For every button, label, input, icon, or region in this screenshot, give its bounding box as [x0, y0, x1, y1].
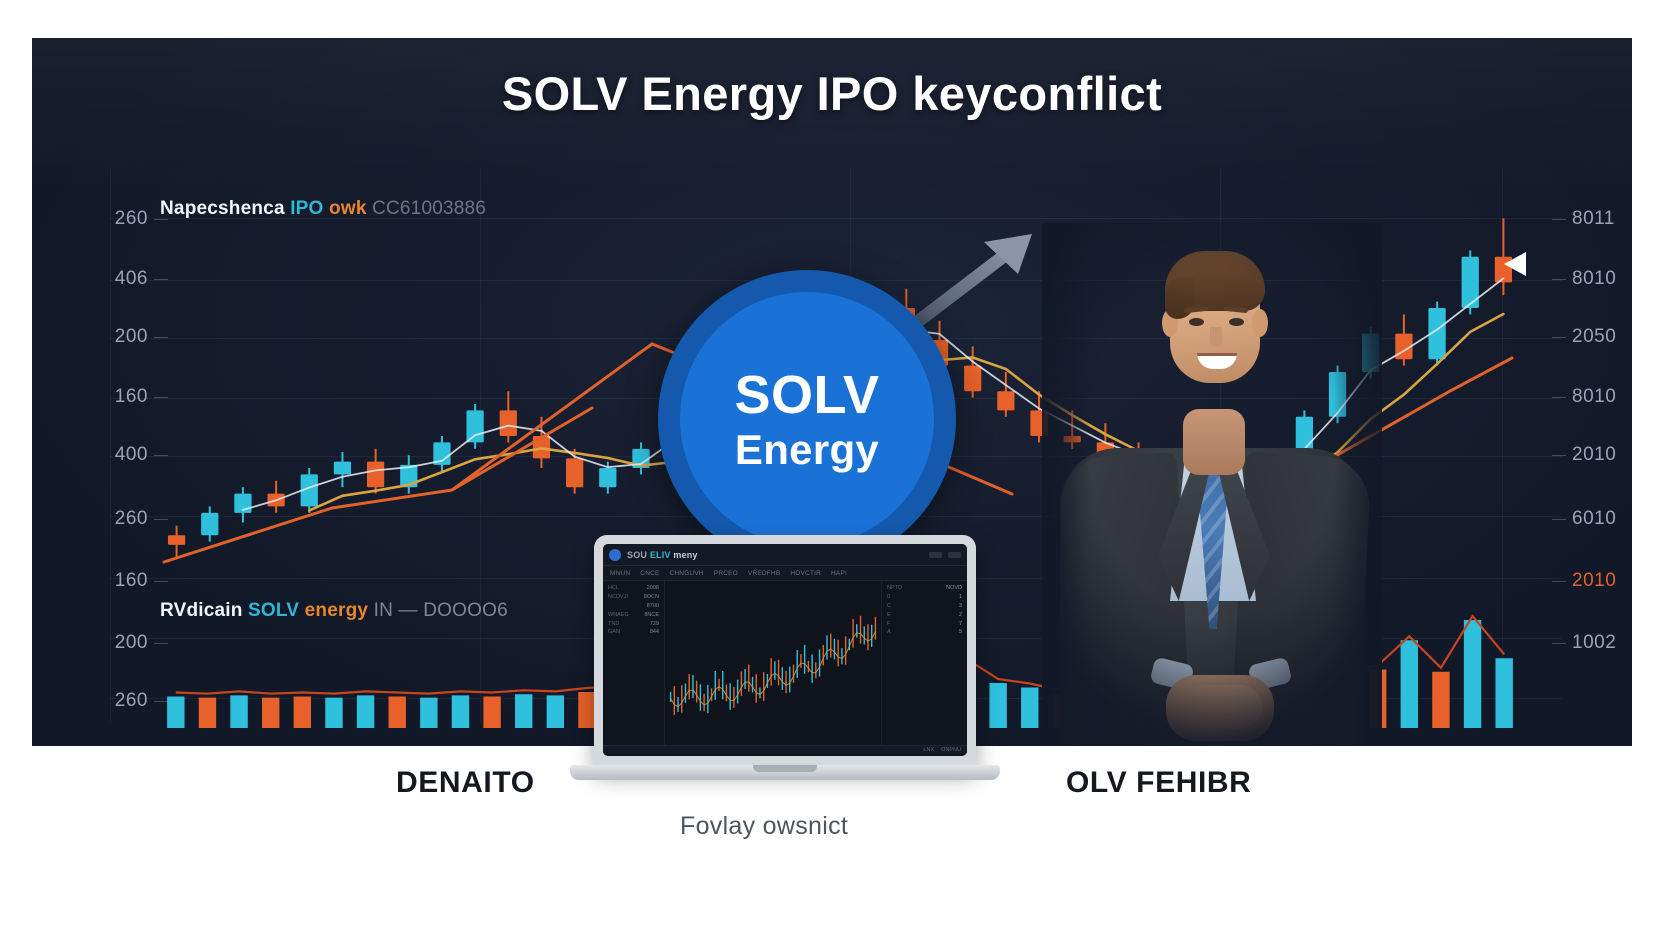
- menu-item-0[interactable]: MNUN: [610, 570, 630, 577]
- row-key: E: [887, 612, 891, 618]
- app-left-panel: HCL2008 NCDVJI8OCN 8700 WNAEG8NCE TND729…: [603, 581, 665, 745]
- menu-item-1[interactable]: CNCE: [640, 570, 659, 577]
- suit-body: [1060, 448, 1366, 746]
- caption-right: OLV FEHIBR: [1066, 766, 1251, 800]
- minimize-button[interactable]: [929, 552, 942, 558]
- y-axis-left-vol-0: 200: [84, 632, 148, 654]
- row-value: NOVD: [946, 585, 962, 591]
- suit-right-arm: [1230, 452, 1371, 746]
- caption-left: DENAITO: [396, 766, 535, 800]
- vol-legend-word-2: SOLV: [248, 600, 299, 621]
- vol-legend-word-5: DOOOO6: [423, 600, 508, 621]
- row-value: 8OCN: [644, 594, 659, 600]
- ear-right: [1252, 309, 1268, 337]
- x-axis-tick-2: 2001: [494, 743, 547, 746]
- trading-app-body: HCL2008 NCDVJI8OCN 8700 WNAEG8NCE TND729…: [603, 581, 967, 745]
- smiling-mouth: [1197, 353, 1237, 369]
- y-axis-left-tick-4: 400: [84, 444, 148, 466]
- suit-left-arm: [1058, 452, 1191, 746]
- status-item-1: ONPNU: [941, 747, 961, 753]
- clasped-hands: [1166, 675, 1274, 741]
- eye-right: [1229, 318, 1244, 326]
- eyebrow-left: [1184, 306, 1208, 313]
- dress-shirt: [1170, 451, 1256, 601]
- row-value: 8NCE: [644, 612, 659, 618]
- price-chart-legend: Napecshenca IPO owk CC61003886: [160, 198, 486, 220]
- legend-word-4: CC61003886: [372, 198, 486, 219]
- row-value: 8700: [647, 603, 659, 609]
- trading-app-statusbar: LNX ONPNU: [603, 745, 967, 754]
- row-value: 844: [650, 629, 659, 635]
- y-axis-right-vol-0: 1002: [1572, 632, 1616, 654]
- shirt-cuff-right: [1247, 657, 1292, 692]
- vol-legend-word-4: IN: [374, 600, 393, 621]
- list-item: TND729: [605, 619, 662, 628]
- maximize-button[interactable]: [948, 552, 961, 558]
- rising-arrow-icon: [912, 234, 1032, 326]
- y-axis-right-tick-0: 8011: [1572, 208, 1615, 230]
- suit-lapel-right: [1218, 451, 1270, 601]
- suit-lapel-left: [1158, 451, 1210, 601]
- list-item: WNAEG8NCE: [605, 610, 662, 619]
- caption-center: Fovlay owsnict: [680, 812, 848, 841]
- row-value: 2008: [647, 585, 659, 591]
- list-item: E2: [884, 610, 965, 619]
- row-key: GAN: [608, 629, 620, 635]
- vol-legend-dash: —: [399, 600, 418, 621]
- row-value: 729: [650, 621, 659, 627]
- necktie: [1198, 461, 1228, 629]
- app-right-panel: NPTONOVD 01 C3 E2 F7 A5: [881, 581, 967, 745]
- row-key: C: [887, 603, 891, 609]
- laptop-screen: SOU ELIV meny MNUN CNCE CHNGUVH PRCEO VR…: [603, 544, 967, 756]
- list-item: A5: [884, 628, 965, 637]
- menu-item-6[interactable]: HAPI: [831, 570, 847, 577]
- list-item: HCL2008: [605, 584, 662, 593]
- app-title-part-a: SOU: [627, 550, 647, 560]
- badge-line-2: Energy: [735, 429, 879, 471]
- app-title-part-b: ELIV: [650, 550, 671, 560]
- y-axis-right-tick-4: 2010: [1572, 444, 1616, 466]
- y-axis-right-tick-5: 6010: [1572, 508, 1616, 530]
- legend-word-3: owk: [329, 198, 367, 219]
- y-axis-left-vol-1: 260: [84, 690, 148, 712]
- legend-word-1: Napecshenca: [160, 198, 285, 219]
- row-key: NCDVJI: [608, 594, 628, 600]
- solv-energy-badge[interactable]: SOLV Energy: [658, 270, 956, 568]
- row-value: 2: [959, 612, 962, 618]
- row-key: HCL: [608, 585, 619, 591]
- volume-chart-legend: RVdicain SOLV energy IN — DOOOO6: [160, 600, 508, 622]
- app-title: SOU ELIV meny: [627, 550, 698, 560]
- hair-part: [1165, 277, 1195, 319]
- row-value: 3: [959, 603, 962, 609]
- laptop-notch: [753, 765, 817, 772]
- neck: [1183, 409, 1245, 475]
- row-key: A: [887, 629, 891, 635]
- row-value: 1: [959, 594, 962, 600]
- badge-line-1: SOLV: [734, 368, 879, 422]
- row-key: F: [887, 621, 890, 627]
- menu-item-4[interactable]: VREDFHB: [748, 570, 780, 577]
- y-axis-left-tick-5: 260: [84, 508, 148, 530]
- y-axis-left-tick-3: 160: [84, 386, 148, 408]
- row-value: 5: [959, 629, 962, 635]
- badge-inner: SOLV Energy: [680, 292, 934, 546]
- x-axis-tick-1: 2001: [320, 743, 373, 746]
- row-value: 7: [959, 621, 962, 627]
- eyebrow-right: [1224, 306, 1248, 313]
- laptop-lid: SOU ELIV meny MNUN CNCE CHNGUVH PRCEO VR…: [594, 535, 976, 767]
- eye-left: [1189, 318, 1204, 326]
- status-item-0: LNX: [923, 747, 934, 753]
- y-axis-right-tick-2: 2050: [1572, 326, 1616, 348]
- x-axis-tick-0: 2003: [154, 743, 207, 746]
- list-item: F7: [884, 619, 965, 628]
- y-axis-left-tick-1: 406: [84, 268, 148, 290]
- y-axis-right-tick-6: 2010: [1572, 570, 1616, 592]
- app-logo-icon: [609, 549, 621, 561]
- necktie-stripes: [1198, 461, 1228, 629]
- vol-legend-word-3: energy: [305, 600, 369, 621]
- trading-app-titlebar: SOU ELIV meny: [603, 544, 967, 566]
- list-item: NCDVJI8OCN: [605, 593, 662, 602]
- menu-item-3[interactable]: PRCEO: [714, 570, 738, 577]
- legend-word-2: IPO: [290, 198, 323, 219]
- list-item: C3: [884, 602, 965, 611]
- app-chart-area[interactable]: [665, 581, 881, 745]
- list-item: 01: [884, 593, 965, 602]
- hair: [1165, 251, 1265, 311]
- app-title-part-c: meny: [673, 550, 697, 560]
- x-axis-tick-3: 10ПQ09Ƌ: [1377, 743, 1479, 746]
- ear-left: [1162, 309, 1178, 337]
- vol-legend-word-1: RVdicain: [160, 600, 243, 621]
- y-axis-left-tick-2: 200: [84, 326, 148, 348]
- row-key: 0: [887, 594, 890, 600]
- trading-app-menubar: MNUN CNCE CHNGUVH PRCEO VREDFHB HOVCTIR …: [603, 566, 967, 581]
- y-axis-left-tick-6: 160: [84, 570, 148, 592]
- laptop-mockup: SOU ELIV meny MNUN CNCE CHNGUVH PRCEO VR…: [570, 535, 1000, 810]
- list-item: 8700: [605, 602, 662, 611]
- shirt-cuff-left: [1149, 657, 1194, 692]
- y-axis-left-tick-0: 260: [84, 208, 148, 230]
- list-item: GAN844: [605, 628, 662, 637]
- y-axis-right-tick-3: 8010: [1572, 386, 1616, 408]
- businessman-photo: [1042, 223, 1382, 746]
- menu-item-5[interactable]: HOVCTIR: [790, 570, 821, 577]
- nose: [1210, 327, 1222, 347]
- y-axis-right-tick-1: 8010: [1572, 268, 1616, 290]
- row-key: NPTO: [887, 585, 902, 591]
- menu-item-2[interactable]: CHNGUVH: [670, 570, 704, 577]
- row-key: WNAEG: [608, 612, 629, 618]
- clasped-hands-top: [1178, 685, 1262, 729]
- list-item: NPTONOVD: [884, 584, 965, 593]
- row-key: TND: [608, 621, 619, 627]
- head: [1170, 259, 1260, 383]
- page-root: SOLV Energy IPO keyconflict: [0, 0, 1664, 928]
